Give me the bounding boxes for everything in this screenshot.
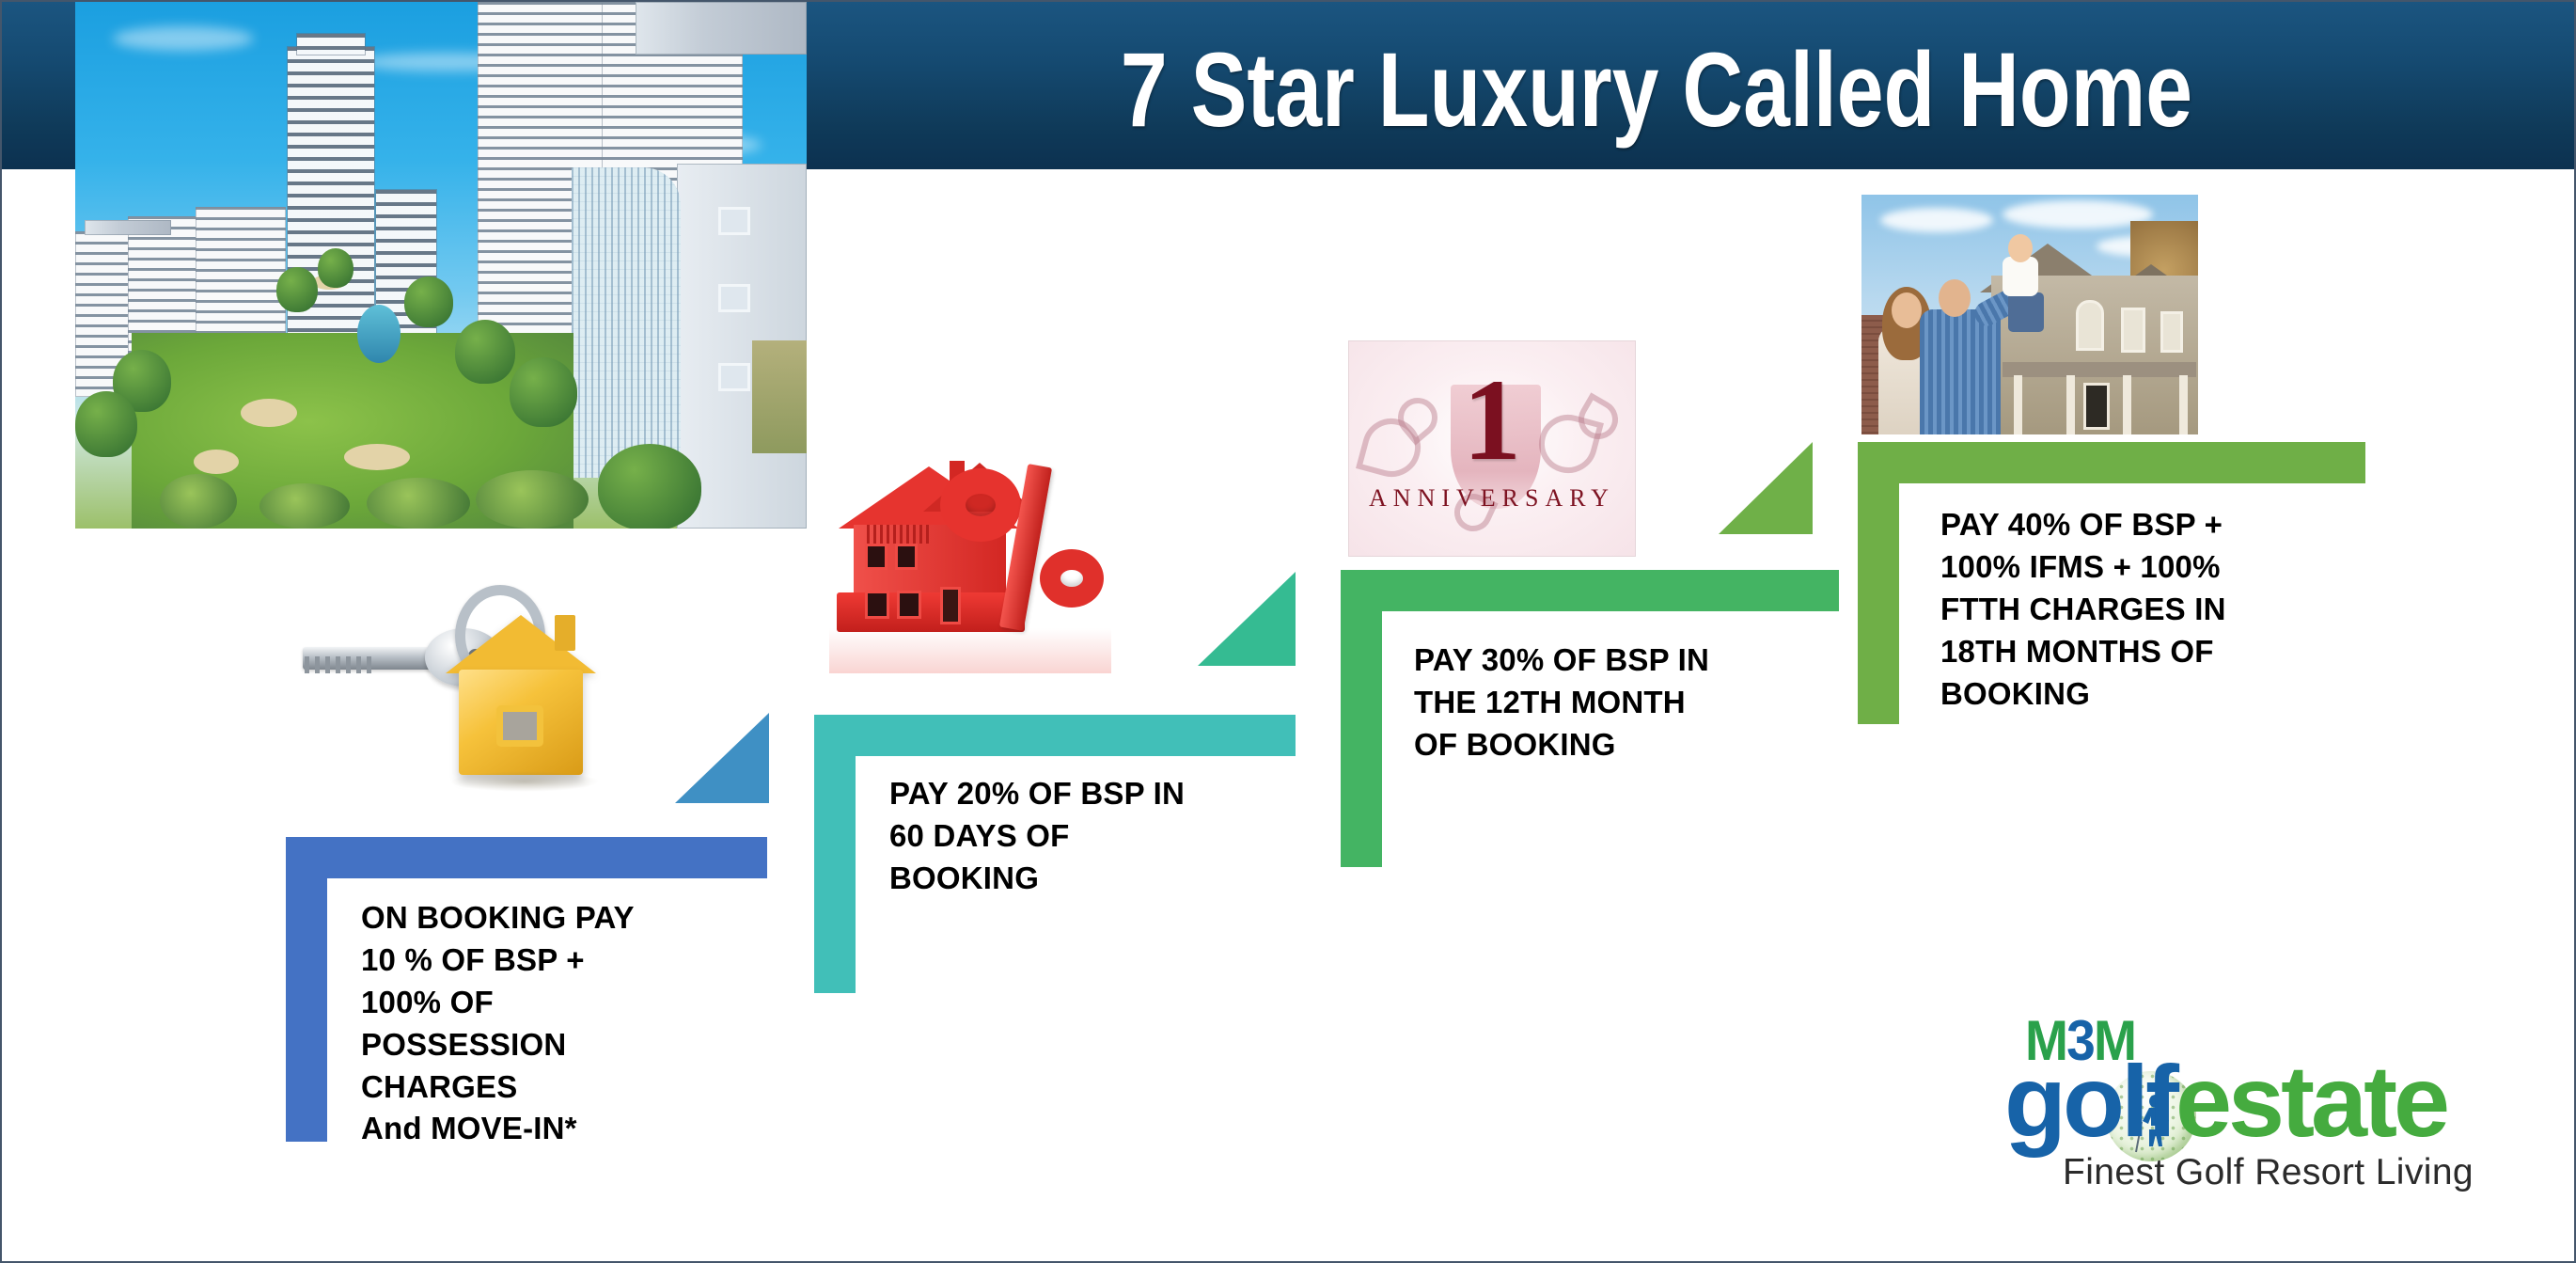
step-1-to-2-arrow <box>675 713 769 803</box>
logo-estate: estate <box>2175 1044 2446 1158</box>
keychain-house-window <box>496 705 543 747</box>
mother-head <box>1892 292 1922 328</box>
step-1-text: ON BOOKING PAY 10 % OF BSP + 100% OF POS… <box>361 897 737 1150</box>
key-teeth <box>305 656 374 673</box>
step-2-to-3-arrow <box>1198 572 1296 666</box>
step-3-text: PAY 30% OF BSP IN THE 12TH MONTH OF BOOK… <box>1414 639 1809 766</box>
step-1-frame-left <box>286 837 327 1142</box>
sand-bunker <box>344 444 410 470</box>
step-2-text: PAY 20% OF BSP IN 60 DAYS OF BOOKING <box>889 773 1284 900</box>
cloud-shape <box>1880 208 1993 232</box>
window <box>897 591 921 619</box>
porch-column <box>2014 375 2022 434</box>
door <box>940 587 961 624</box>
step-1-frame-top <box>286 837 767 878</box>
water-pond <box>357 305 401 363</box>
keychain-house-chimney <box>555 615 575 651</box>
roof-slab <box>85 220 171 235</box>
anniversary-image: 1 ANNIVERSARY <box>1348 340 1636 557</box>
percent-lower-circle <box>1040 549 1104 608</box>
tree <box>510 357 577 427</box>
sand-bunker <box>241 399 297 427</box>
logo-golfestate-wordmark: golfestate <box>2004 1050 2446 1152</box>
palm-tree <box>367 478 470 529</box>
logo-lf: lf <box>2121 1044 2175 1158</box>
window <box>718 284 750 312</box>
drop-shadow <box>449 771 600 792</box>
tower-crown <box>297 34 365 55</box>
step-4-frame-left <box>1858 442 1899 724</box>
baby-legs <box>2008 292 2044 332</box>
step-3-to-4-arrow <box>1719 442 1813 534</box>
house-key-keychain-image <box>284 566 641 858</box>
presentation-slide: 7 Star Luxury Called Home <box>0 0 2576 1263</box>
step-3-frame-left <box>1341 570 1382 867</box>
red-house-balcony <box>867 525 929 544</box>
baby-body <box>2003 257 2038 296</box>
anniversary-number: 1 <box>1349 362 1635 479</box>
porch-column <box>2179 375 2188 434</box>
porch-column <box>2066 375 2075 434</box>
step-4-text: PAY 40% OF BSP + 100% IFMS + 100% FTTH C… <box>1940 504 2335 715</box>
porch-column <box>2123 375 2131 434</box>
window <box>865 591 889 619</box>
step-4-frame-top <box>1858 442 2365 483</box>
baby-head <box>2008 234 2033 262</box>
percent-upper-circle <box>940 468 1021 542</box>
m3m-golf-estate-logo: M3M golfestate Finest Golf Resort Living <box>2004 1013 2493 1201</box>
glass-facade <box>572 167 681 478</box>
step-2-frame-left <box>814 715 856 993</box>
tree <box>455 320 515 384</box>
father-body <box>1920 309 2001 434</box>
tree <box>404 276 453 327</box>
palm-tree <box>476 470 589 529</box>
tree <box>75 391 137 457</box>
arched-window <box>2076 300 2104 351</box>
window <box>865 544 887 570</box>
cloud-shape <box>113 26 254 51</box>
porch-roof <box>2003 362 2196 377</box>
window <box>718 207 750 235</box>
sand-bunker <box>194 450 239 474</box>
front-door <box>2083 383 2110 430</box>
window <box>2121 308 2145 353</box>
step-3-frame-top <box>1341 570 1839 611</box>
slide-title: 7 Star Luxury Called Home <box>950 9 2364 169</box>
distant-fairway <box>752 340 807 453</box>
father-head <box>1939 279 1971 317</box>
reflection <box>829 628 1111 673</box>
roof-slab <box>636 2 807 55</box>
window <box>718 363 750 391</box>
logo-tagline: Finest Golf Resort Living <box>2063 1152 2474 1193</box>
family-new-home-image <box>1861 195 2198 434</box>
red-house-percent-image <box>829 444 1149 679</box>
palm-tree <box>259 483 350 529</box>
logo-go: go <box>2004 1044 2121 1158</box>
estate-render-image <box>75 2 807 529</box>
window <box>2160 311 2183 353</box>
tree <box>318 248 353 288</box>
tree <box>276 267 318 312</box>
tree <box>598 444 701 529</box>
palm-tree <box>160 474 237 529</box>
anniversary-label: ANNIVERSARY <box>1349 484 1635 513</box>
step-2-frame-top <box>814 715 1296 756</box>
window <box>895 544 918 570</box>
